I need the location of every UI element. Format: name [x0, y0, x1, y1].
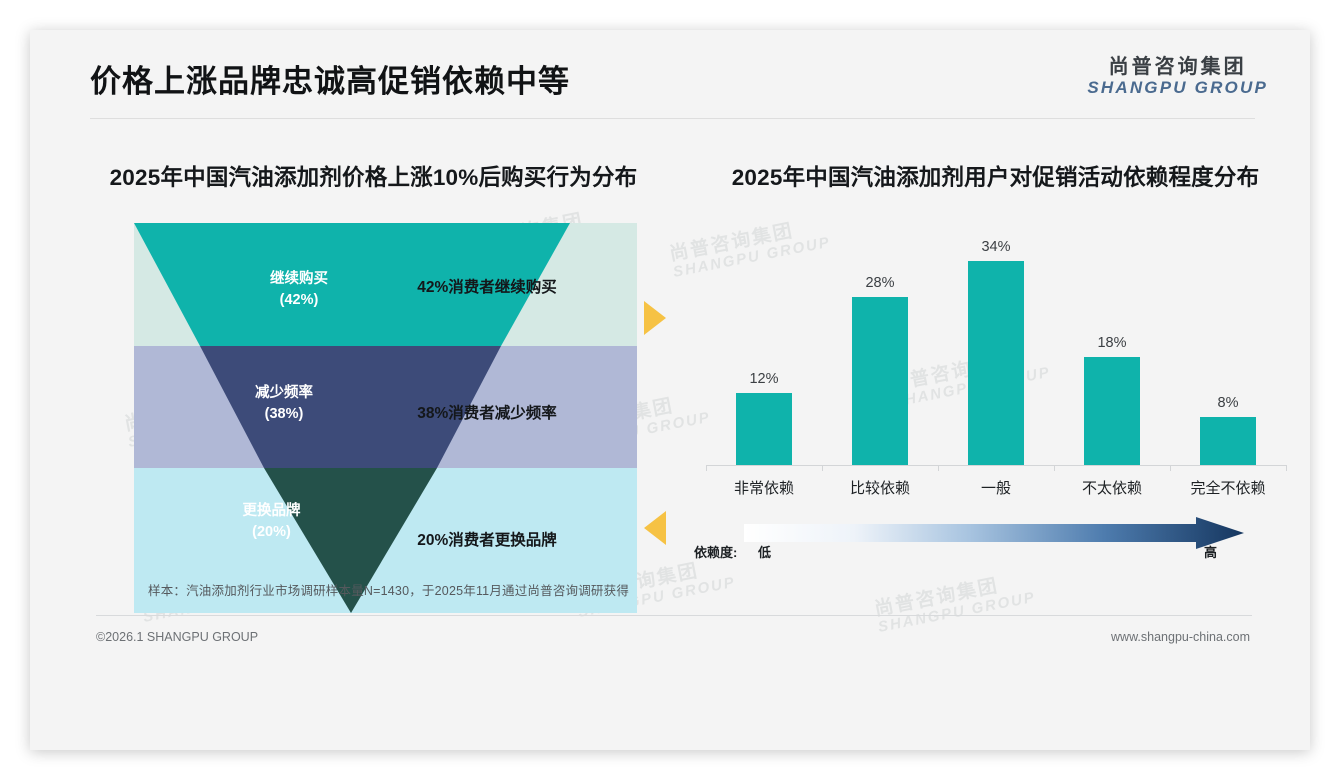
axis-tick — [1170, 465, 1171, 471]
bar-rect — [852, 297, 908, 465]
funnel-label-text: 继续购买 — [270, 271, 328, 287]
bar-value-label: 12% — [706, 371, 822, 387]
bar-chart: 12% 28% 34% 18% 8% — [688, 225, 1303, 495]
bar-rect — [1084, 357, 1140, 465]
bar-plot-area: 12% 28% 34% 18% 8% — [706, 225, 1286, 465]
bar-value-label: 18% — [1054, 335, 1170, 351]
bar-column: 8% — [1170, 225, 1286, 465]
header: 价格上涨品牌忠诚高促销依赖中等 尚普咨询集团 SHANGPU GROUP — [30, 30, 1310, 120]
x-axis-category-label: 完全不依赖 — [1170, 477, 1286, 498]
bar-value-label: 34% — [938, 239, 1054, 255]
funnel-label-value: (20%) — [252, 524, 291, 540]
funnel-caption: 42%消费者继续购买 — [342, 275, 632, 297]
legend-high-label: 高 — [1204, 542, 1217, 561]
x-axis-category-label: 一般 — [938, 477, 1054, 498]
legend-title: 依赖度: — [694, 542, 737, 561]
sample-note: 样本：汽油添加剂行业市场调研样本量N=1430，于2025年11月通过尚普咨询调… — [148, 580, 629, 599]
x-axis-line — [706, 465, 1286, 466]
bar-value-label: 8% — [1170, 395, 1286, 411]
funnel-label: 更换品牌 (20%) — [174, 501, 369, 545]
watermark-cn: 尚普咨询集团 — [873, 570, 1034, 620]
bar-value-label: 28% — [822, 275, 938, 291]
funnel-label-value: (42%) — [280, 292, 319, 308]
logo-text-en: SHANGPU GROUP — [1087, 78, 1268, 97]
funnel-label-text: 更换品牌 — [243, 503, 301, 519]
logo-text-cn: 尚普咨询集团 — [1087, 56, 1268, 78]
panel-promotion-reliance: 2025年中国汽油添加剂用户对促销活动依赖程度分布 12% 28% 34% 18… — [688, 162, 1303, 571]
legend-low-label: 低 — [758, 542, 771, 561]
axis-tick — [706, 465, 707, 471]
funnel-caption: 38%消费者减少频率 — [342, 401, 632, 423]
axis-tick — [1054, 465, 1055, 471]
footer-divider — [96, 615, 1252, 616]
axis-tick — [1286, 465, 1287, 471]
footer-copyright: ©2026.1 SHANGPU GROUP — [96, 630, 258, 644]
funnel-label-value: (38%) — [265, 406, 304, 422]
left-chart-title: 2025年中国汽油添加剂价格上涨10%后购买行为分布 — [66, 162, 681, 195]
brand-logo: 尚普咨询集团 SHANGPU GROUP — [1087, 56, 1268, 97]
triangle-right-icon — [644, 301, 666, 335]
panel-purchase-behavior: 2025年中国汽油添加剂价格上涨10%后购买行为分布 继续购买 (42%) 减少… — [66, 162, 681, 613]
footer-website[interactable]: www.shangpu-china.com — [1111, 630, 1250, 644]
header-divider — [90, 118, 1255, 119]
reliance-gradient-legend: 依赖度: 低 高 — [688, 513, 1303, 571]
bar-column: 18% — [1054, 225, 1170, 465]
bar-column: 28% — [822, 225, 938, 465]
slide-card: 尚普咨询集团 SHANGPU GROUP 尚普咨询集团 SHANGPU GROU… — [30, 30, 1310, 750]
funnel-caption: 20%消费者更换品牌 — [342, 528, 632, 550]
funnel-chart: 继续购买 (42%) 减少频率 (38%) 更换品牌 (20%) 42%消费者继… — [66, 223, 681, 613]
funnel-label-text: 减少频率 — [255, 385, 313, 401]
bar-column: 34% — [938, 225, 1054, 465]
bar-rect — [736, 393, 792, 465]
page-title: 价格上涨品牌忠诚高促销依赖中等 — [90, 56, 570, 101]
triangle-left-icon — [644, 511, 666, 545]
bar-rect — [1200, 417, 1256, 465]
gradient-arrow-icon — [744, 517, 1244, 549]
bar-rect — [968, 261, 1024, 465]
x-axis-category-label: 比较依赖 — [822, 477, 938, 498]
bar-column: 12% — [706, 225, 822, 465]
footer: ©2026.1 SHANGPU GROUP www.shangpu-china.… — [30, 622, 1310, 660]
x-axis-category-label: 不太依赖 — [1054, 477, 1170, 498]
x-axis-category-label: 非常依赖 — [706, 477, 822, 498]
axis-tick — [822, 465, 823, 471]
right-chart-title: 2025年中国汽油添加剂用户对促销活动依赖程度分布 — [688, 162, 1303, 195]
axis-tick — [938, 465, 939, 471]
